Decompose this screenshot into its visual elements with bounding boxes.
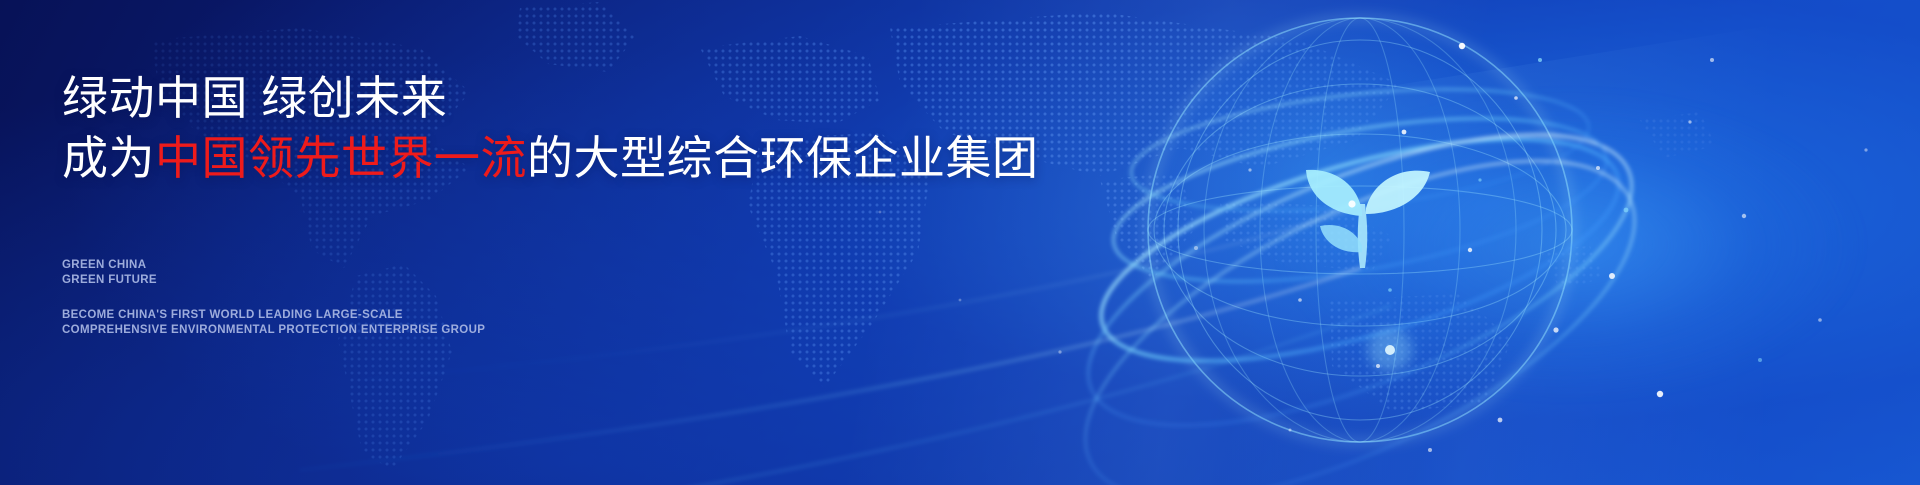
slogan-en-group: GREEN CHINA GREEN FUTURE <box>62 258 157 288</box>
slogan-en-line-1: GREEN CHINA <box>62 258 157 273</box>
globe-glow <box>1160 30 1920 460</box>
headline-line-1: 绿动中国 绿创未来 <box>62 70 1062 126</box>
headline-line-2: 成为中国领先世界一流的大型综合环保企业集团 <box>62 130 1062 186</box>
headline-group: 绿动中国 绿创未来 成为中国领先世界一流的大型综合环保企业集团 <box>62 70 1062 186</box>
tagline-en-group: BECOME CHINA'S FIRST WORLD LEADING LARGE… <box>62 308 485 338</box>
tagline-en-line-1: BECOME CHINA'S FIRST WORLD LEADING LARGE… <box>62 308 485 323</box>
hero-banner: 绿动中国 绿创未来 成为中国领先世界一流的大型综合环保企业集团 GREEN CH… <box>0 0 1920 485</box>
headline-highlight: 中国领先世界一流 <box>155 132 527 184</box>
headline-suffix: 的大型综合环保企业集团 <box>527 132 1039 184</box>
globe-icon <box>1060 0 1660 485</box>
headline-prefix: 成为 <box>62 132 155 184</box>
tagline-en-line-2: COMPREHENSIVE ENVIRONMENTAL PROTECTION E… <box>62 323 485 338</box>
slogan-en-line-2: GREEN FUTURE <box>62 273 157 288</box>
sprout-leaf-icon <box>1306 170 1430 268</box>
